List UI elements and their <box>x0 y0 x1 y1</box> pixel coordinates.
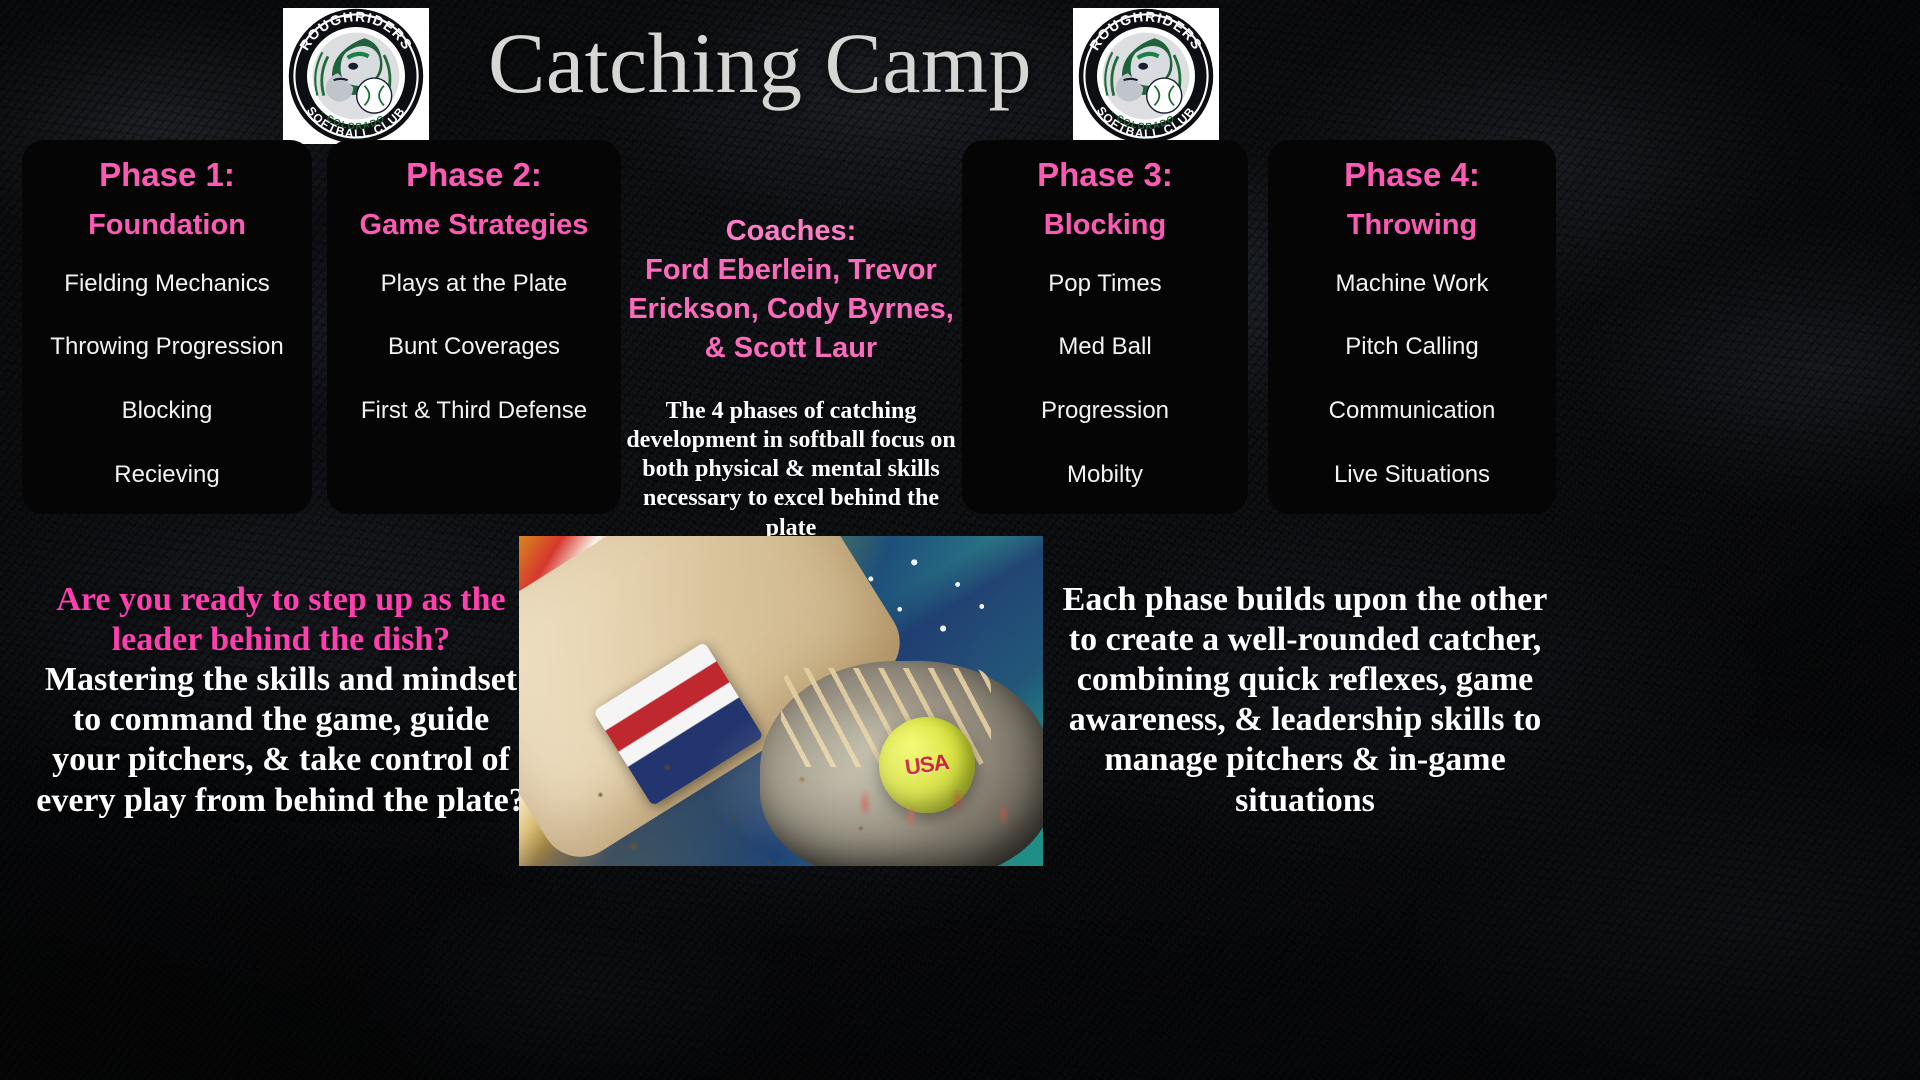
coaches-label: Coaches: <box>618 212 964 251</box>
list-item: Pitch Calling <box>1278 333 1546 362</box>
phase-3-subheading: Blocking <box>1044 207 1166 243</box>
phase-card-1[interactable]: Phase 1: Foundation Fielding Mechanics T… <box>22 140 312 514</box>
bottom-left-accent: Are you ready to step up as the leader b… <box>36 580 526 660</box>
phase-card-2[interactable]: Phase 2: Game Strategies Plays at the Pl… <box>327 140 621 514</box>
list-item: Recieving <box>32 461 302 490</box>
phase-4-heading: Phase 4: <box>1344 154 1480 195</box>
list-item: Progression <box>972 397 1238 426</box>
page-title: Catching Camp <box>440 18 1080 108</box>
coaches-block: Coaches: Ford Eberlein, Trevor Erickson,… <box>618 212 964 543</box>
phase-3-list: Pop Times Med Ball Progression Mobilty <box>972 270 1238 525</box>
phase-2-heading: Phase 2: <box>406 154 542 195</box>
list-item: Plays at the Plate <box>337 270 611 299</box>
softball-slide-photo: USA <box>519 536 1043 866</box>
stadium-glow <box>519 536 1043 866</box>
phase-card-4[interactable]: Phase 4: Throwing Machine Work Pitch Cal… <box>1268 140 1556 514</box>
list-item: Bunt Coverages <box>337 333 611 362</box>
phase-1-subheading: Foundation <box>88 207 246 243</box>
list-item: First & Third Defense <box>337 397 611 426</box>
list-item: Pop Times <box>972 270 1238 299</box>
phase-1-list: Fielding Mechanics Throwing Progression … <box>32 270 302 525</box>
list-item: Blocking <box>32 397 302 426</box>
roughriders-logo-icon: ROUGHRIDERS · COLORADO · SOFTBALL CLUB <box>1073 8 1219 144</box>
bottom-right-body: Each phase builds upon the other to crea… <box>1063 581 1548 819</box>
list-item: Fielding Mechanics <box>32 270 302 299</box>
phase-card-3[interactable]: Phase 3: Blocking Pop Times Med Ball Pro… <box>962 140 1248 514</box>
phase-2-subheading: Game Strategies <box>360 207 589 243</box>
phase-4-list: Machine Work Pitch Calling Communication… <box>1278 270 1546 525</box>
list-item: Throwing Progression <box>32 333 302 362</box>
header: ROUGHRIDERS · COLORADO · SOFTBALL CLUB C… <box>0 0 1920 142</box>
coaches-names: Ford Eberlein, Trevor Erickson, Cody Byr… <box>618 251 964 368</box>
list-item: Med Ball <box>972 333 1238 362</box>
list-item: Machine Work <box>1278 270 1546 299</box>
bottom-left-body: Mastering the skills and mindset to comm… <box>36 661 526 818</box>
phase-2-list: Plays at the Plate Bunt Coverages First … <box>337 270 611 461</box>
list-item: Communication <box>1278 397 1546 426</box>
roughriders-logo-icon: ROUGHRIDERS · COLORADO · SOFTBALL CLUB <box>283 8 429 144</box>
phase-4-subheading: Throwing <box>1347 207 1477 243</box>
list-item: Mobilty <box>972 461 1238 490</box>
bottom-right-blurb: Each phase builds upon the other to crea… <box>1050 580 1560 821</box>
list-item: Live Situations <box>1278 461 1546 490</box>
center-description: The 4 phases of catching development in … <box>618 397 964 543</box>
phase-3-heading: Phase 3: <box>1037 154 1173 195</box>
bottom-left-blurb: Are you ready to step up as the leader b… <box>36 580 526 821</box>
phase-1-heading: Phase 1: <box>99 154 235 195</box>
